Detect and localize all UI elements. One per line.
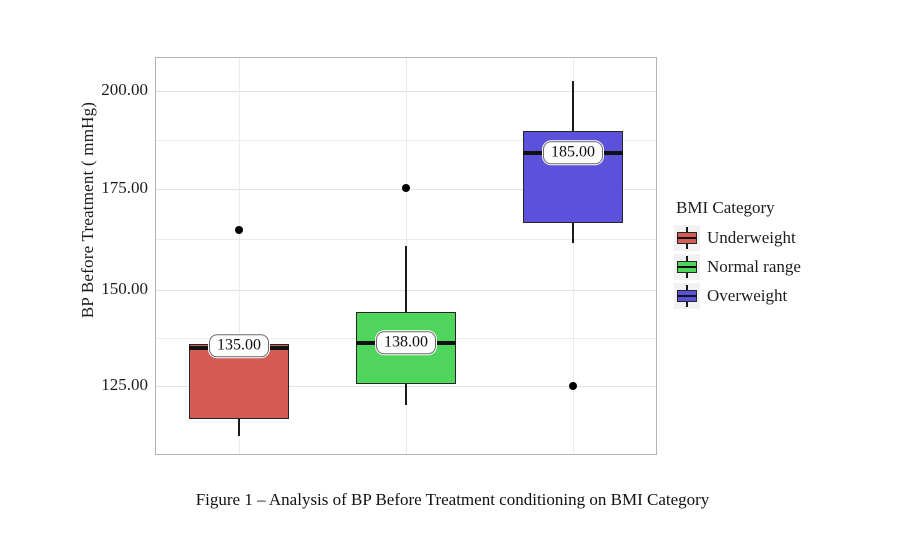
whisker-lower-underweight (238, 419, 240, 436)
y-tick-label-200: 200.00 (82, 80, 148, 100)
y-axis-tick-labels: 200.00 175.00 150.00 125.00 (82, 0, 148, 559)
outlier-point-underweight (235, 226, 243, 234)
y-tick-label-175: 175.00 (82, 178, 148, 198)
boxplot-normal-range[interactable]: 138.00 (356, 58, 456, 454)
whisker-lower-overweight (572, 223, 574, 243)
legend: BMI Category Underweight Normal range (674, 198, 894, 310)
outlier-point-normal-range (402, 184, 410, 192)
y-tick-label-125: 125.00 (82, 375, 148, 395)
outlier-point-overweight (569, 382, 577, 390)
legend-swatch-overweight-icon (674, 283, 700, 309)
legend-item-normal-range[interactable]: Normal range (674, 252, 894, 281)
legend-item-underweight[interactable]: Underweight (674, 223, 894, 252)
legend-swatch-median (677, 295, 697, 297)
median-value-label-overweight: 185.00 (543, 141, 603, 164)
figure-caption: Figure 1 – Analysis of BP Before Treatme… (0, 490, 905, 510)
legend-swatch-normal-range-icon (674, 254, 700, 280)
legend-swatch-median (677, 237, 697, 239)
figure-container: BP Before Treatment ( mmHg) 200.00 175.0… (0, 0, 905, 559)
boxplot-overweight[interactable]: 185.00 (523, 58, 623, 454)
legend-label-underweight: Underweight (707, 228, 796, 248)
legend-label-overweight: Overweight (707, 286, 787, 306)
whisker-lower-normal-range (405, 384, 407, 405)
legend-label-normal-range: Normal range (707, 257, 801, 277)
plot-panel: 135.00 138.00 185.00 (155, 57, 657, 455)
whisker-upper-normal-range (405, 246, 407, 312)
boxplot-underweight[interactable]: 135.00 (189, 58, 289, 454)
median-value-label-underweight: 135.00 (209, 334, 269, 357)
whisker-upper-overweight (572, 81, 574, 131)
y-tick-label-150: 150.00 (82, 279, 148, 299)
legend-item-overweight[interactable]: Overweight (674, 281, 894, 310)
legend-title: BMI Category (674, 198, 894, 218)
legend-swatch-median (677, 266, 697, 268)
median-value-label-normal-range: 138.00 (376, 331, 436, 354)
legend-swatch-underweight-icon (674, 225, 700, 251)
